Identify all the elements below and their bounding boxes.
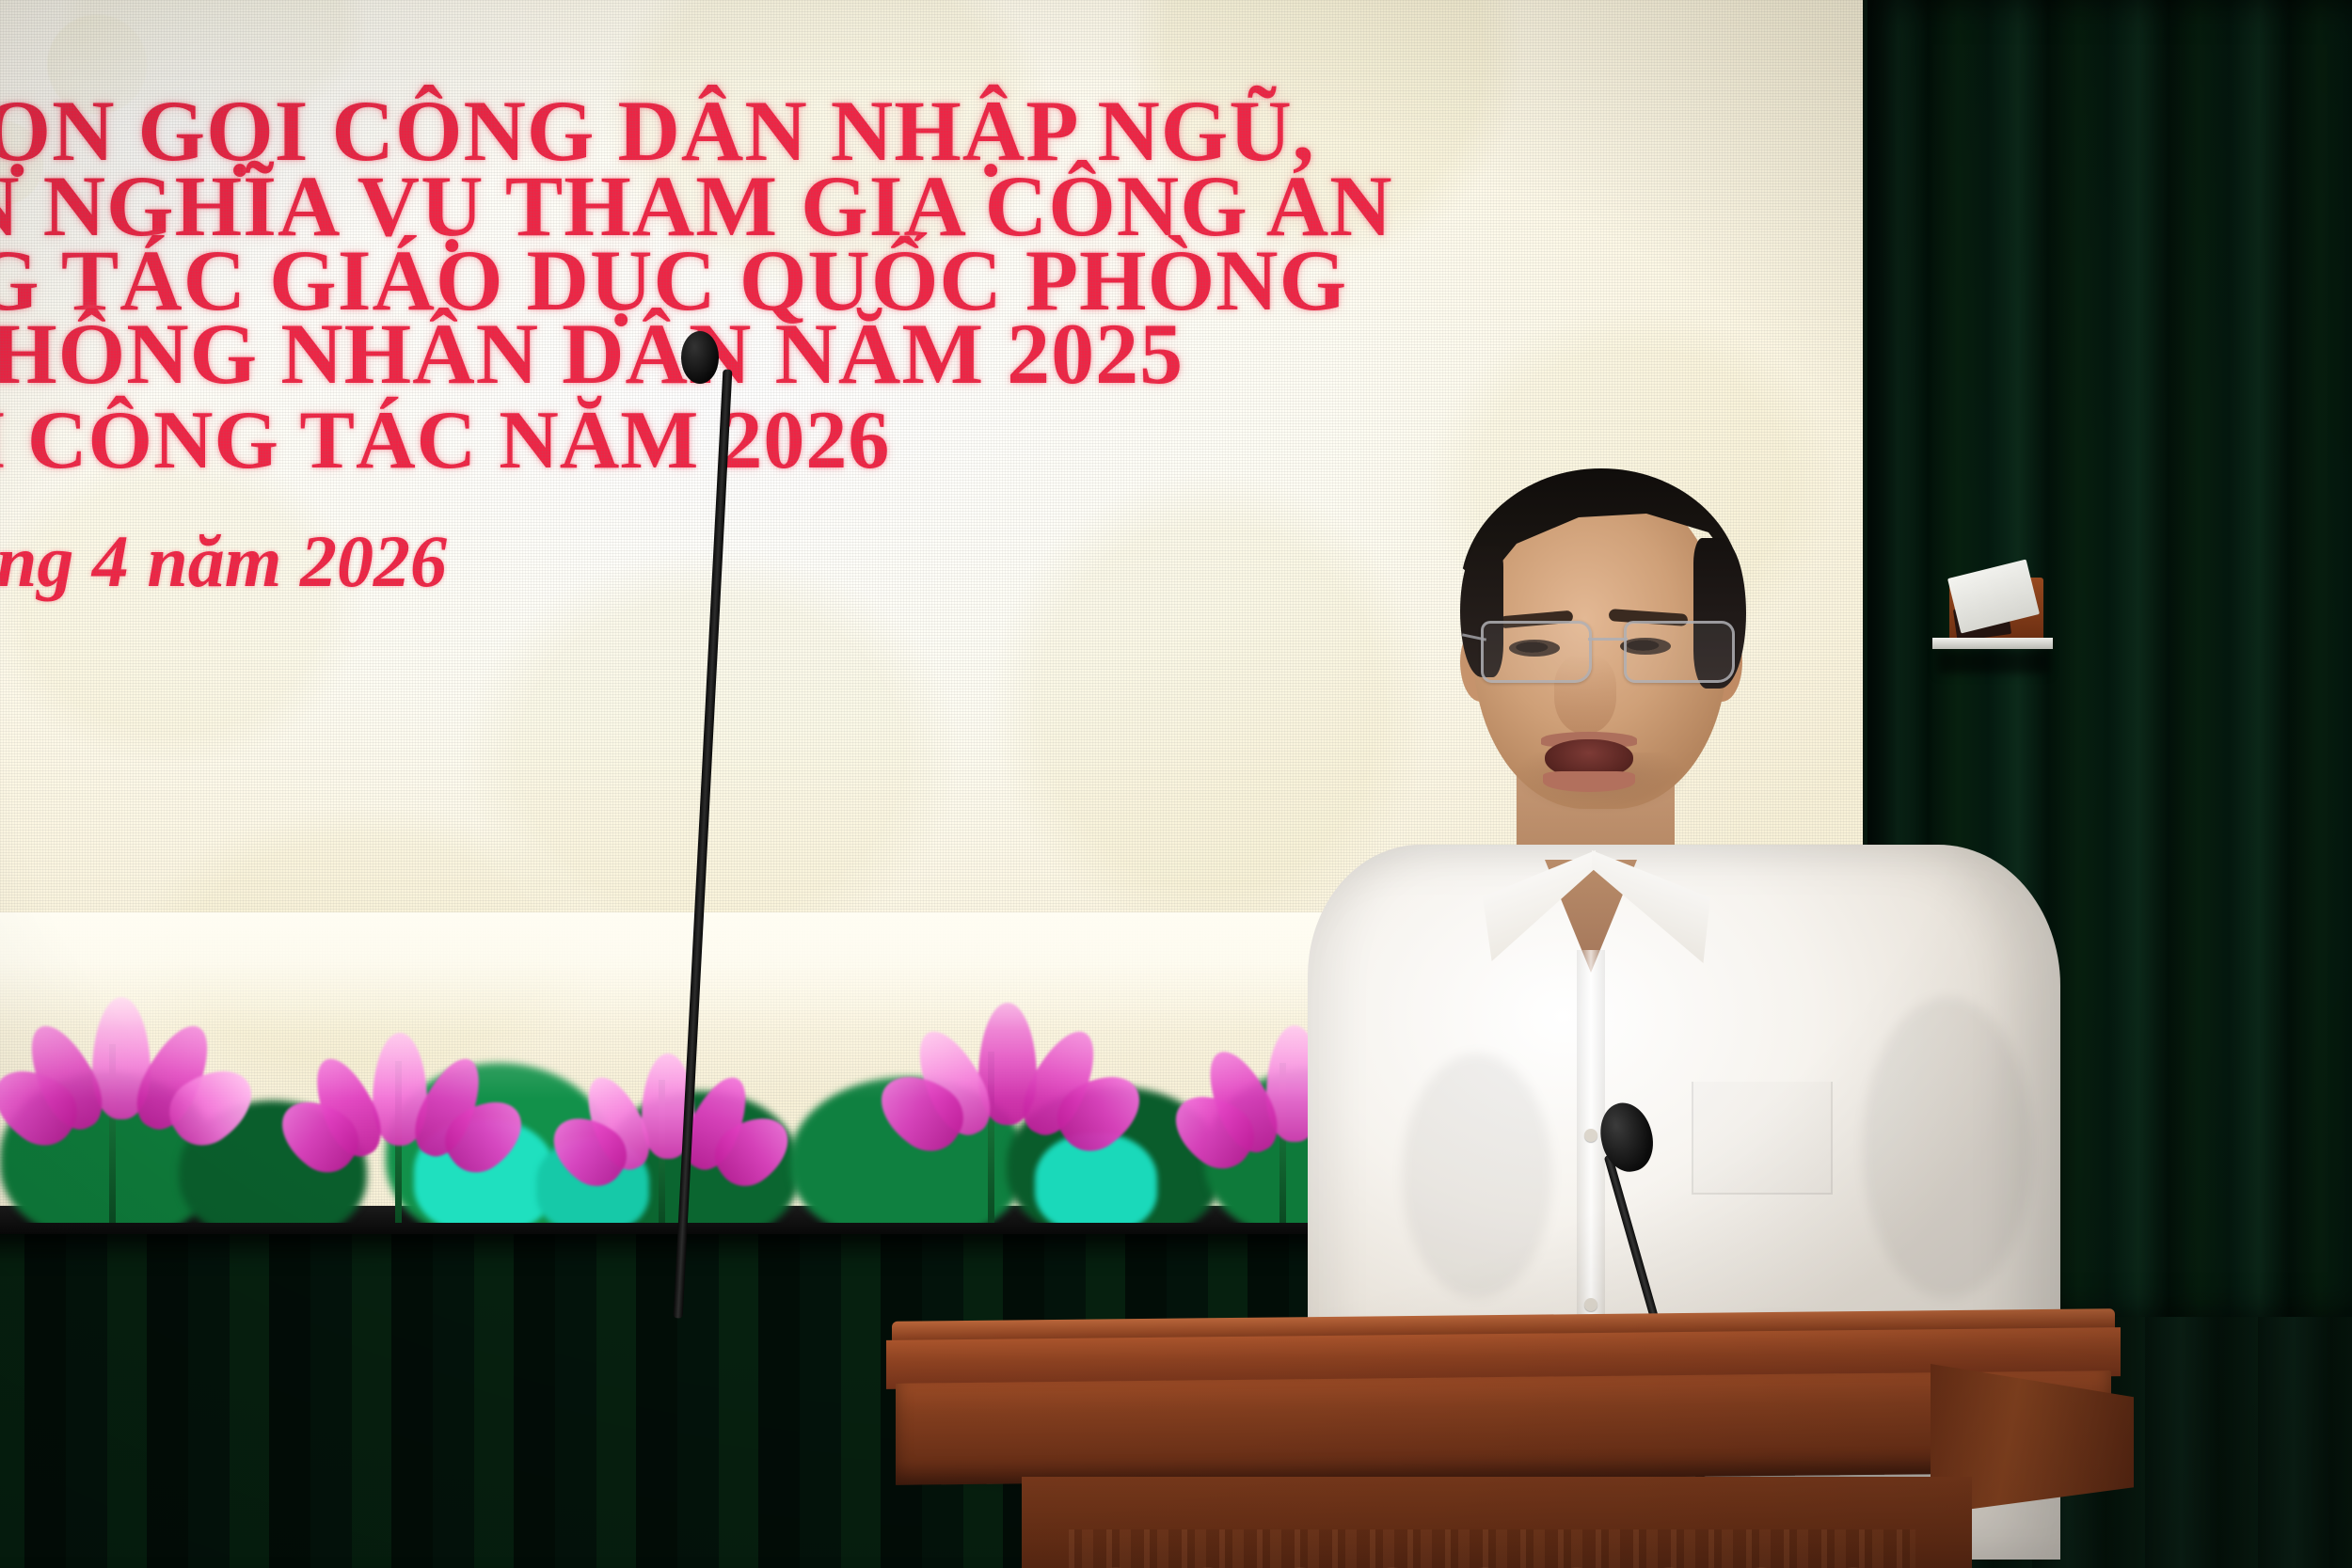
podium-carving-relief — [1069, 1528, 1915, 1568]
banner-line-5: CH CÔNG TÁC NĂM 2026 — [0, 393, 890, 488]
banner-date-line: tháng 4 năm 2026 — [0, 519, 447, 604]
microphone-head — [1594, 1098, 1660, 1178]
wooden-podium — [847, 1315, 2183, 1568]
microphone-head-secondary — [681, 331, 719, 384]
podium-front-lip — [896, 1370, 2111, 1485]
photo-scene: HỌN GỌI CÔNG DÂN NHẬP NGŨ, IỆN NGHĨA VỤ … — [0, 0, 2352, 1568]
banner-line-4: G KHÔNG NHÂN DÂN NĂM 2025 — [0, 304, 1184, 404]
